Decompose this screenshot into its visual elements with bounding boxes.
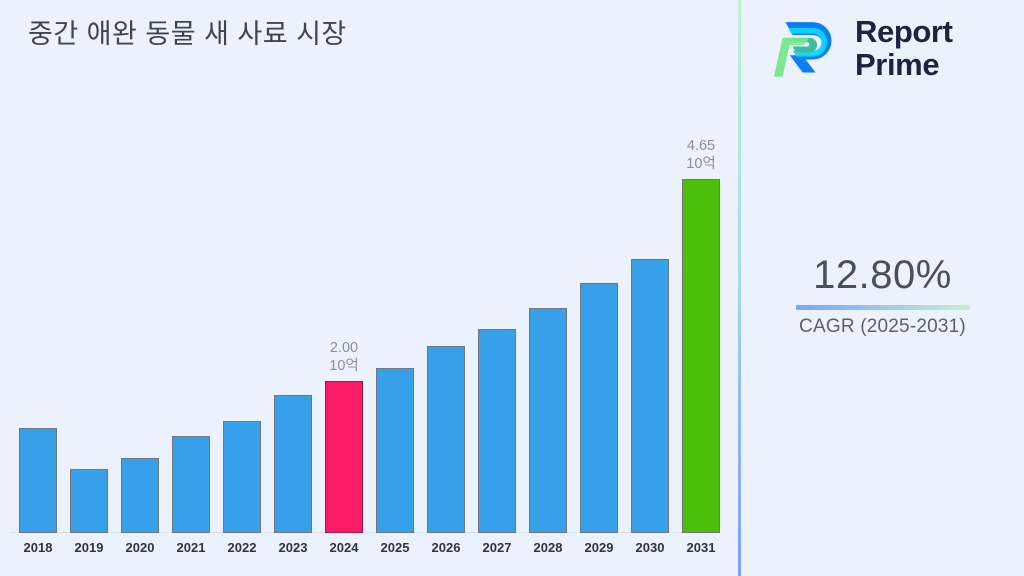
cagr-label: CAGR (2025-2031) xyxy=(741,316,1024,338)
cagr-block: 12.80% CAGR (2025-2031) xyxy=(741,252,1024,338)
bar-2023[interactable] xyxy=(274,395,312,533)
x-axis-tick-2020: 2020 xyxy=(121,540,159,555)
x-axis-tick-2028: 2028 xyxy=(529,540,567,555)
bar-2026[interactable] xyxy=(427,346,465,533)
bar-value-number: 4.65 xyxy=(686,137,715,155)
brand-name-line2: Prime xyxy=(855,47,939,82)
bar-2027[interactable] xyxy=(478,329,516,533)
chart-title: 중간 애완 동물 새 사료 시장 xyxy=(28,12,347,51)
x-axis-tick-2030: 2030 xyxy=(631,540,669,555)
bar-2018[interactable] xyxy=(19,428,57,533)
x-axis-tick-2019: 2019 xyxy=(70,540,108,555)
x-axis-tick-2021: 2021 xyxy=(172,540,210,555)
x-axis-tick-2024: 2024 xyxy=(325,540,363,555)
bar-2021[interactable] xyxy=(172,436,210,533)
report-prime-mark-icon xyxy=(771,12,843,84)
x-axis-tick-2031: 2031 xyxy=(682,540,720,555)
x-axis-tick-2025: 2025 xyxy=(376,540,414,555)
bar-2020[interactable] xyxy=(121,458,159,533)
bar-value-number: 2.00 xyxy=(329,339,358,357)
bar-value-unit: 10억 xyxy=(686,155,715,173)
x-axis-tick-2022: 2022 xyxy=(223,540,261,555)
bar-value-label-2024: 2.0010억 xyxy=(329,339,358,375)
cagr-divider xyxy=(796,305,970,310)
brand-logo: Report Prime xyxy=(771,12,953,84)
x-axis-tick-2029: 2029 xyxy=(580,540,618,555)
chart-panel: 중간 애완 동물 새 사료 시장 2.0010억4.6510억 20182019… xyxy=(0,0,738,576)
bar-2031[interactable] xyxy=(682,179,720,533)
brand-name-line1: Report xyxy=(855,14,953,49)
brand-panel: Report Prime 12.80% CAGR (2025-2031) xyxy=(741,0,1024,576)
bar-2025[interactable] xyxy=(376,368,414,533)
bar-2028[interactable] xyxy=(529,308,567,533)
bar-2019[interactable] xyxy=(70,469,108,533)
bar-value-label-2031: 4.6510억 xyxy=(686,137,715,173)
x-axis-tick-2023: 2023 xyxy=(274,540,312,555)
bar-value-unit: 10억 xyxy=(329,357,358,375)
chart-plot-area: 2.0010억4.6510억 xyxy=(0,100,738,535)
x-axis-tick-2026: 2026 xyxy=(427,540,465,555)
cagr-value: 12.80% xyxy=(741,252,1024,298)
bar-2024[interactable] xyxy=(325,381,363,533)
x-axis-tick-2027: 2027 xyxy=(478,540,516,555)
x-axis-tick-2018: 2018 xyxy=(19,540,57,555)
brand-name: Report Prime xyxy=(855,15,953,81)
bar-2030[interactable] xyxy=(631,259,669,533)
bar-2029[interactable] xyxy=(580,283,618,533)
bar-2022[interactable] xyxy=(223,421,261,533)
